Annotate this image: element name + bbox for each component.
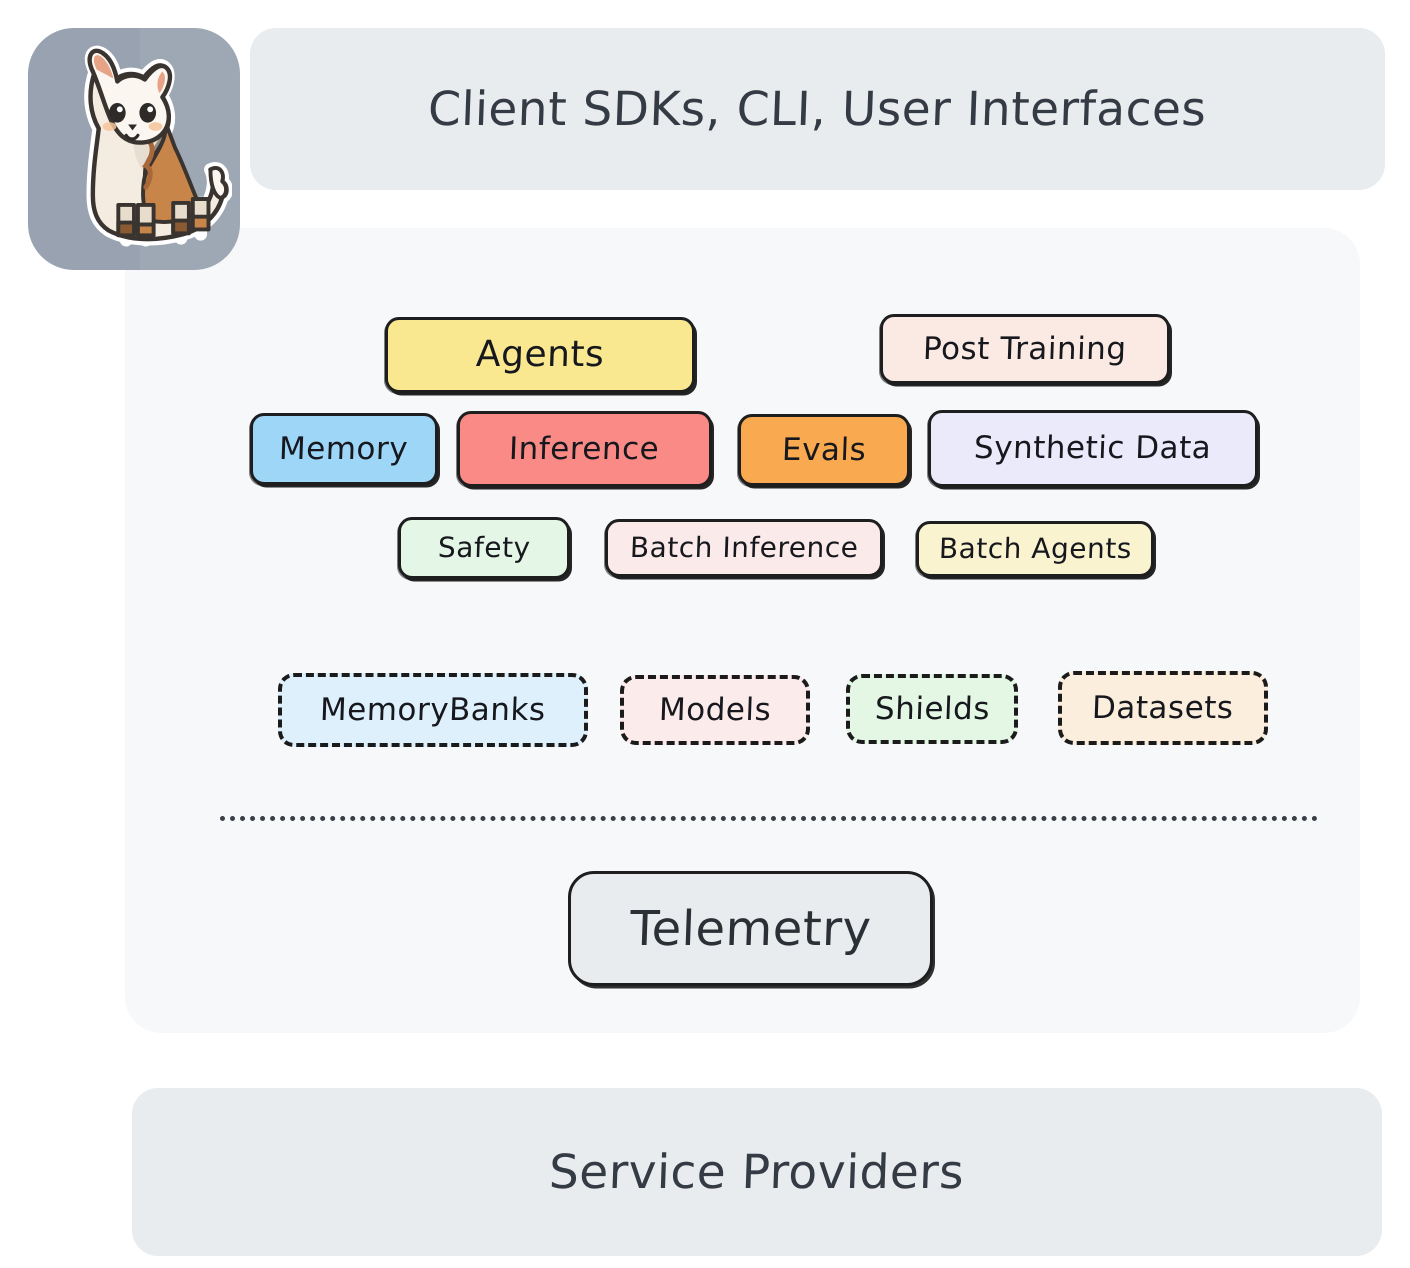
api-box-post-training[interactable]: Post Training <box>880 314 1170 384</box>
api-label-batch-inference: Batch Inference <box>629 534 858 562</box>
llama-stack-panel: AgentsPost TrainingMemoryInferenceEvalsS… <box>125 228 1360 1033</box>
api-label-memory: Memory <box>279 434 409 465</box>
resource-box-shields[interactable]: Shields <box>846 674 1018 744</box>
resource-label-datasets: Datasets <box>1092 690 1235 726</box>
api-box-synthetic-data[interactable]: Synthetic Data <box>928 410 1258 487</box>
api-label-inference: Inference <box>509 434 660 465</box>
llama-icon <box>36 38 232 264</box>
llama-logo-tile <box>28 28 240 270</box>
telemetry-box[interactable]: Telemetry <box>568 871 933 986</box>
telemetry-label: Telemetry <box>629 901 872 957</box>
api-box-safety[interactable]: Safety <box>398 517 570 579</box>
resource-label-models: Models <box>658 692 771 728</box>
api-label-batch-agents: Batch Agents <box>938 535 1132 563</box>
api-label-agents: Agents <box>475 337 605 373</box>
client-layer-label: Client SDKs, CLI, User Interfaces <box>427 82 1207 137</box>
api-box-inference[interactable]: Inference <box>457 411 712 487</box>
service-providers-label: Service Providers <box>548 1145 965 1200</box>
api-label-evals: Evals <box>781 435 866 466</box>
layer-divider <box>220 816 1318 821</box>
api-box-agents[interactable]: Agents <box>385 317 695 393</box>
resource-box-datasets[interactable]: Datasets <box>1058 671 1268 745</box>
resource-box-models[interactable]: Models <box>620 675 810 745</box>
resource-label-shields: Shields <box>874 691 990 727</box>
api-label-synthetic-data: Synthetic Data <box>974 433 1212 464</box>
api-box-batch-agents[interactable]: Batch Agents <box>916 521 1154 577</box>
api-box-evals[interactable]: Evals <box>738 414 910 486</box>
service-providers-banner: Service Providers <box>132 1088 1382 1256</box>
resource-label-memory-banks: MemoryBanks <box>320 692 547 728</box>
api-label-post-training: Post Training <box>923 334 1128 365</box>
client-layer-banner: Client SDKs, CLI, User Interfaces <box>250 28 1385 190</box>
api-box-memory[interactable]: Memory <box>250 413 438 485</box>
api-box-batch-inference[interactable]: Batch Inference <box>605 519 883 577</box>
resource-box-memory-banks[interactable]: MemoryBanks <box>278 673 588 747</box>
api-label-safety: Safety <box>437 534 531 562</box>
